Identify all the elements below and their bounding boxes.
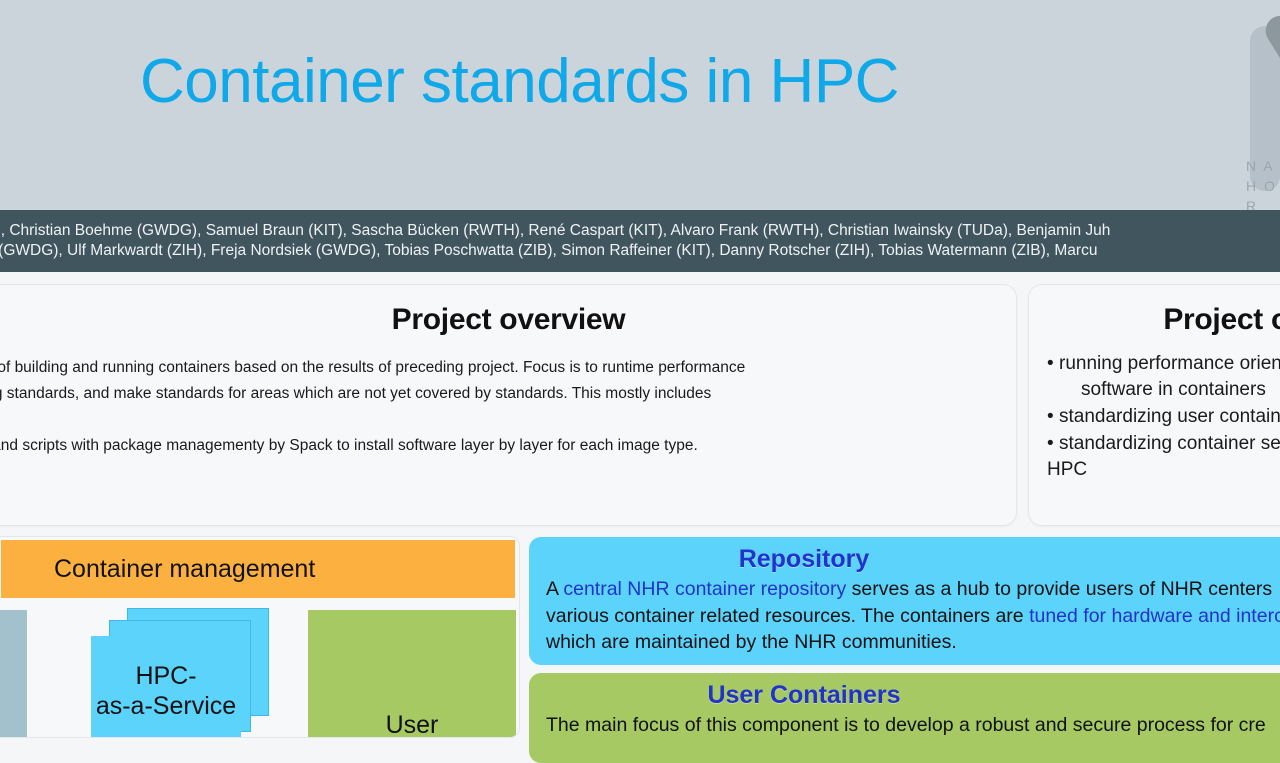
stack-label-line-2: as-a-Service — [96, 691, 236, 721]
project-overview-title: Project overview — [0, 303, 1016, 337]
user-containers-panel: User Containers The main focus of this c… — [529, 673, 1280, 763]
page-title: Container standards in HPC — [140, 42, 1040, 122]
panel-text: The main focus of this component is to d… — [546, 714, 1266, 736]
project-objectives-card: Project objectives running performance o… — [1028, 284, 1280, 526]
logo-wordmark-line-2: H O — [1246, 176, 1277, 196]
objective-text: standardizing user containers — [1059, 406, 1280, 427]
container-management-diagram-card: Container management d HPC- as-a-Service… — [0, 536, 520, 738]
stack-label-line-1: HPC- — [96, 661, 236, 691]
logo-wordmark-line-1: N A — [1246, 156, 1275, 176]
user-containers-panel-body: The main focus of this component is to d… — [529, 710, 1280, 739]
panel-paragraph: which are maintained by the NHR communit… — [546, 629, 1280, 656]
container-management-header: Container management — [1, 540, 515, 598]
objective-item: standardizing user containers — [1047, 404, 1280, 430]
overview-paragraph: ers on HPC centers using existing standa… — [0, 381, 988, 407]
container-management-label: Container management — [54, 555, 315, 584]
project-overview-body: used on implementing standards of buildi… — [0, 337, 1016, 459]
author-line-2: WDG), Julian Kunkel (GWDG), Ulf Markward… — [0, 241, 1280, 261]
highlighted-phrase: tuned for hardware and interconnect — [1029, 605, 1280, 627]
objective-text-cont: HPC — [1047, 457, 1280, 483]
overview-paragraph: used on implementing standards of buildi… — [0, 355, 988, 381]
poster-header: Container standards in HPC N A H O R — [0, 0, 1280, 210]
panel-paragraph: A central NHR container repository serve… — [546, 576, 1280, 603]
panel-text: various container related resources. The… — [546, 605, 1029, 627]
objective-text-cont: software in containers — [1059, 377, 1280, 403]
objective-text: running performance oriented — [1059, 353, 1280, 374]
diagram-box-user: User — [308, 610, 516, 738]
project-objectives-title: Project objectives — [1029, 303, 1280, 337]
stack-sheet-front: HPC- as-a-Service — [91, 636, 241, 738]
repository-panel-title: Repository — [529, 545, 1280, 574]
diagram-box-user-label: User — [386, 711, 439, 738]
objective-item: standardizing container security in HPC — [1047, 431, 1280, 483]
overview-paragraph: s automated by using templates and scrip… — [0, 433, 988, 459]
highlighted-phrase: central NHR container repository — [563, 578, 846, 600]
objective-item: running performance oriented software in… — [1047, 351, 1280, 403]
overview-paragraph: ented features of containers. — [0, 407, 988, 433]
stack-label: HPC- as-a-Service — [96, 661, 236, 721]
diagram-box-stack-hpc-as-a-service: HPC- as-a-Service — [91, 608, 271, 738]
author-list-band: ziyakhmetov (GWDG), Christian Boehme (GW… — [0, 210, 1280, 272]
panel-text: A — [546, 578, 563, 600]
nhr-logo: N A H O R — [1244, 20, 1280, 200]
diagram-body: d HPC- as-a-Service User — [0, 602, 519, 737]
panel-paragraph: The main focus of this component is to d… — [546, 712, 1280, 739]
project-objectives-list: running performance oriented software in… — [1029, 351, 1280, 483]
panel-text: serves as a hub to provide users of NHR … — [846, 578, 1272, 600]
repository-panel: Repository A central NHR container repos… — [529, 537, 1280, 665]
panel-text: which are maintained by the NHR communit… — [546, 631, 957, 653]
panel-paragraph: various container related resources. The… — [546, 603, 1280, 630]
project-overview-card: Project overview used on implementing st… — [0, 284, 1017, 526]
diagram-box-left: d — [0, 610, 27, 738]
author-line-1: ziyakhmetov (GWDG), Christian Boehme (GW… — [0, 221, 1280, 241]
user-containers-panel-title: User Containers — [529, 681, 1280, 710]
repository-panel-body: A central NHR container repository serve… — [529, 574, 1280, 656]
objective-text: standardizing container security in — [1059, 433, 1280, 454]
